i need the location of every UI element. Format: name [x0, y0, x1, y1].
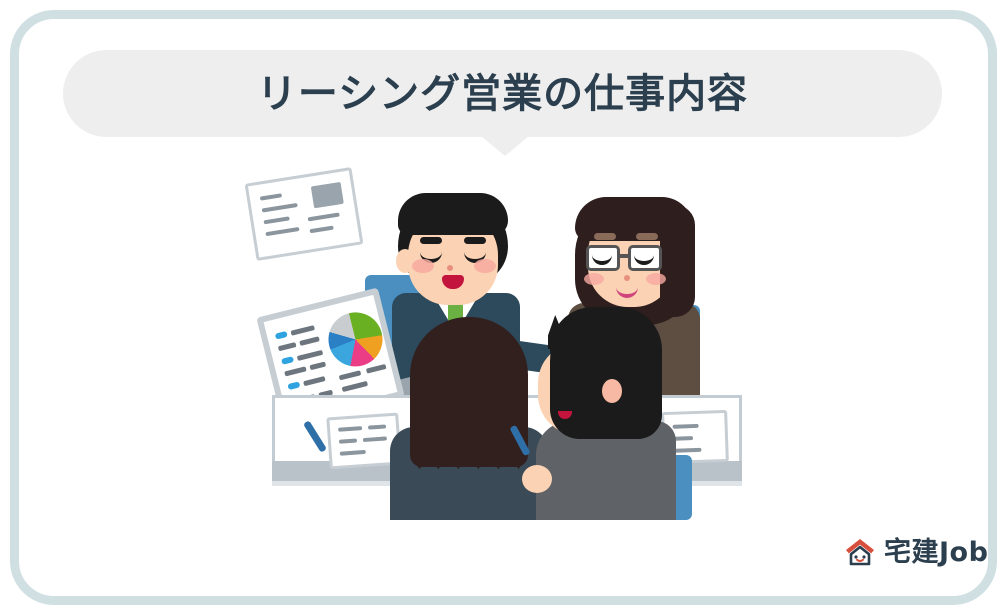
woman-brow-left	[594, 233, 616, 240]
meeting-illustration	[250, 175, 750, 520]
salesman-brow-right	[464, 237, 486, 244]
salesman-fringe	[398, 193, 508, 235]
page-title: リーシング営業の仕事内容	[257, 74, 748, 114]
woman-brow-right	[636, 233, 658, 240]
seated-man-brow	[556, 359, 576, 365]
salesman-nose	[447, 265, 453, 271]
seated-woman-hair	[410, 317, 528, 467]
house-icon	[845, 538, 875, 566]
title-speech-bubble: リーシング営業の仕事内容	[63, 50, 942, 137]
salesman-cheek-left	[412, 259, 434, 273]
logo-text: 宅建Job	[884, 539, 988, 566]
pie-chart	[323, 307, 388, 372]
seated-man-eye	[560, 371, 571, 385]
held-document	[245, 167, 364, 261]
seated-man-hand	[522, 465, 552, 493]
seated-man-ear	[602, 379, 622, 403]
woman-hair-side	[660, 205, 695, 317]
woman-glasses-bridge	[620, 254, 628, 258]
speech-bubble-tail-icon	[481, 136, 529, 156]
hero-image-canvas: リーシング営業の仕事内容	[0, 0, 1007, 615]
person-seated-man-profile	[250, 175, 358, 253]
salesman-cheek-right	[474, 259, 496, 273]
woman-cheek-left	[584, 273, 604, 285]
woman-cheek-right	[646, 273, 666, 285]
site-logo[interactable]: 宅建Job	[845, 538, 988, 566]
salesman-brow-left	[420, 237, 442, 244]
woman-nose	[624, 275, 630, 281]
